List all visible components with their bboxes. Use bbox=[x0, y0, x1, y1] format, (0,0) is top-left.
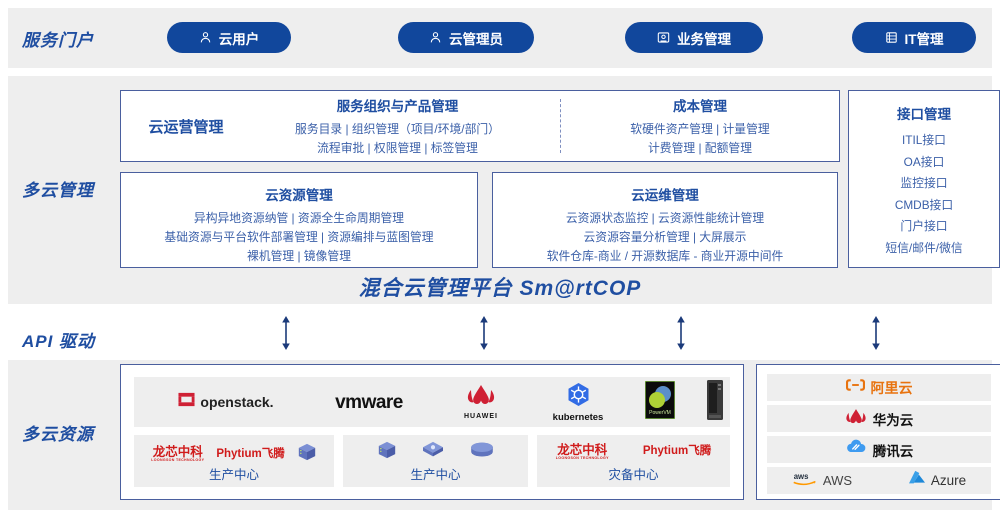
cloud-resource-mgmt-line: 基础资源与平台软件部署管理 | 资源编排与蓝图管理 bbox=[121, 228, 477, 247]
multicloud-resources-band: openstack. vmware HUAWEI bbox=[8, 360, 992, 510]
aliyun-logo-icon bbox=[846, 378, 865, 397]
service-product-mgmt-line: 流程审批 | 权限管理 | 标签管理 bbox=[251, 139, 544, 158]
loongson-logo: 龙芯中科 LOONGSON TECHNOLOGY bbox=[556, 444, 609, 460]
cloud-maintenance-mgmt-line: 软件仓库-商业 / 开源数据库 - 商业开源中间件 bbox=[493, 247, 837, 266]
virtualization-vendor-strip: openstack. vmware HUAWEI bbox=[134, 377, 730, 427]
openstack-logo-icon bbox=[178, 391, 195, 413]
cost-mgmt-line: 软硬件资产管理 | 计量管理 bbox=[561, 120, 839, 139]
chip-vendor-name: Phytium飞腾 bbox=[216, 449, 284, 461]
cloud-resource-mgmt-box: 云资源管理 异构异地资源纳管 | 资源全生命周期管理 基础资源与平台软件部署管理… bbox=[120, 172, 478, 268]
cloud-operations-label: 云运营管理 bbox=[121, 116, 251, 137]
chip-vendor-subtitle: LOONGSON TECHNOLOGY bbox=[151, 459, 204, 463]
storage-icon bbox=[421, 440, 445, 465]
vendor-name: vmware bbox=[335, 393, 403, 412]
chip-vendor-name: 龙芯中科 bbox=[557, 444, 607, 457]
portal-button-cloud-admin[interactable]: 云管理员 bbox=[398, 22, 534, 53]
portal-button-cloud-user[interactable]: 云用户 bbox=[167, 22, 291, 53]
cloud-resource-mgmt-title: 云资源管理 bbox=[121, 184, 477, 204]
bidirectional-arrow bbox=[478, 316, 490, 350]
azure-logo-icon bbox=[908, 470, 926, 491]
chip-vendor-name: Phytium飞腾 bbox=[643, 446, 711, 458]
datacenter-caption: 生产中心 bbox=[343, 464, 528, 483]
cloud-maintenance-mgmt-line: 云资源容量分析管理 | 大屏展示 bbox=[493, 228, 837, 247]
cloud-maintenance-mgmt-line: 云资源状态监控 | 云资源性能统计管理 bbox=[493, 209, 837, 228]
chip-vendor-subtitle: LOONGSON TECHNOLOGY bbox=[556, 457, 609, 461]
datacenter-panel: 龙芯中科 LOONGSON TECHNOLOGY Phytium飞腾 生产中心 bbox=[134, 435, 334, 487]
kubernetes-logo-icon bbox=[566, 382, 591, 412]
public-cloud-name: AWS bbox=[823, 473, 852, 488]
svg-text:PowerVM: PowerVM bbox=[649, 410, 671, 416]
vendor-name: openstack. bbox=[200, 395, 273, 409]
window-icon bbox=[657, 31, 670, 44]
interface-mgmt-item: 监控接口 bbox=[849, 173, 999, 195]
interface-mgmt-box: 接口管理 ITIL接口 OA接口 监控接口 CMDB接口 门户接口 短信/邮件/… bbox=[848, 90, 1000, 268]
onprem-resources-box: openstack. vmware HUAWEI bbox=[120, 364, 744, 500]
server-rack-icon bbox=[705, 380, 725, 425]
datacenter-panel: 龙芯中科 LOONGSON TECHNOLOGY Phytium飞腾 灾备中心 bbox=[537, 435, 730, 487]
huawei-logo-icon bbox=[466, 384, 496, 411]
cloud-maintenance-mgmt-box: 云运维管理 云资源状态监控 | 云资源性能统计管理 云资源容量分析管理 | 大屏… bbox=[492, 172, 838, 268]
public-cloud-name: 阿里云 bbox=[871, 378, 913, 398]
interface-mgmt-title: 接口管理 bbox=[849, 103, 999, 123]
service-product-mgmt-line: 服务目录 | 组织管理（项目/环境/部门） bbox=[251, 120, 544, 139]
cost-mgmt-title: 成本管理 bbox=[561, 95, 839, 115]
interface-mgmt-item: ITIL接口 bbox=[849, 130, 999, 152]
bidirectional-arrow bbox=[280, 316, 292, 350]
portal-button-label: IT管理 bbox=[905, 28, 944, 48]
database-icon bbox=[469, 441, 495, 464]
public-cloud-box: 阿里云 华为云 腾讯云 aws bbox=[756, 364, 1000, 500]
cloud-resource-mgmt-line: 裸机管理 | 镜像管理 bbox=[121, 247, 477, 266]
row-label-multicloud-resources: 多云资源 bbox=[22, 420, 94, 445]
server-icon bbox=[885, 31, 898, 44]
powervm-logo-icon: PowerVM bbox=[645, 381, 675, 424]
interface-mgmt-item: CMDB接口 bbox=[849, 195, 999, 217]
cloud-resource-mgmt-line: 异构异地资源纳管 | 资源全生命周期管理 bbox=[121, 209, 477, 228]
user-icon bbox=[199, 31, 212, 44]
portal-button-business-mgmt[interactable]: 业务管理 bbox=[625, 22, 763, 53]
cloud-maintenance-mgmt-title: 云运维管理 bbox=[493, 184, 837, 204]
vendor-huawei: HUAWEI bbox=[436, 377, 526, 427]
public-cloud-row-tencent: 腾讯云 bbox=[767, 436, 991, 463]
vendor-kubernetes: kubernetes bbox=[528, 377, 628, 427]
datacenter-caption: 灾备中心 bbox=[537, 464, 730, 483]
portal-button-label: 云管理员 bbox=[449, 28, 503, 48]
datacenter-panel: 生产中心 bbox=[343, 435, 528, 487]
public-cloud-row-aws-azure: aws AWS Azure bbox=[767, 467, 991, 494]
vendor-name: HUAWEI bbox=[464, 413, 498, 420]
public-cloud-name: 华为云 bbox=[873, 409, 914, 429]
public-cloud-row-aliyun: 阿里云 bbox=[767, 374, 991, 401]
cost-mgmt-column: 成本管理 软硬件资产管理 | 计量管理 计费管理 | 配额管理 bbox=[561, 95, 839, 158]
portal-button-label: 业务管理 bbox=[677, 28, 731, 48]
row-label-api-driven: API 驱动 bbox=[22, 327, 95, 352]
cost-mgmt-line: 计费管理 | 配额管理 bbox=[561, 139, 839, 158]
aws-logo-icon: aws bbox=[792, 470, 818, 492]
public-cloud-row-huawei: 华为云 bbox=[767, 405, 991, 432]
datacenter-caption: 生产中心 bbox=[134, 464, 334, 483]
loongson-logo: 龙芯中科 LOONGSON TECHNOLOGY bbox=[151, 446, 204, 462]
portal-button-label: 云用户 bbox=[219, 28, 260, 48]
cloud-operations-box: 云运营管理 服务组织与产品管理 服务目录 | 组织管理（项目/环境/部门） 流程… bbox=[120, 90, 840, 162]
vendor-openstack: openstack. bbox=[156, 377, 296, 427]
user-icon bbox=[429, 31, 442, 44]
row-label-service-portal: 服务门户 bbox=[22, 26, 94, 51]
row-label-multicloud-management: 多云管理 bbox=[22, 176, 94, 201]
service-product-mgmt-column: 服务组织与产品管理 服务目录 | 组织管理（项目/环境/部门） 流程审批 | 权… bbox=[251, 95, 560, 158]
public-cloud-name: Azure bbox=[931, 473, 966, 488]
tencentcloud-logo-icon bbox=[845, 439, 867, 460]
interface-mgmt-item: 门户接口 bbox=[849, 216, 999, 238]
huaweicloud-logo-icon bbox=[845, 408, 867, 430]
vendor-vmware: vmware bbox=[304, 377, 434, 427]
vendor-name: kubernetes bbox=[553, 413, 604, 423]
platform-title: 混合云管理平台 Sm@rtCOP bbox=[8, 272, 992, 302]
service-product-mgmt-title: 服务组织与产品管理 bbox=[251, 95, 544, 115]
multicloud-management-band: 云运营管理 服务组织与产品管理 服务目录 | 组织管理（项目/环境/部门） 流程… bbox=[8, 76, 992, 304]
public-cloud-name: 腾讯云 bbox=[873, 440, 914, 460]
server-cube-icon bbox=[377, 440, 397, 465]
bidirectional-arrow bbox=[675, 316, 687, 350]
interface-mgmt-item: 短信/邮件/微信 bbox=[849, 238, 999, 260]
portal-button-it-mgmt[interactable]: IT管理 bbox=[852, 22, 976, 53]
vendor-server-rack bbox=[690, 377, 740, 427]
svg-text:aws: aws bbox=[794, 471, 809, 480]
vendor-powervm: PowerVM bbox=[630, 377, 690, 427]
bidirectional-arrow bbox=[870, 316, 882, 350]
interface-mgmt-item: OA接口 bbox=[849, 152, 999, 174]
